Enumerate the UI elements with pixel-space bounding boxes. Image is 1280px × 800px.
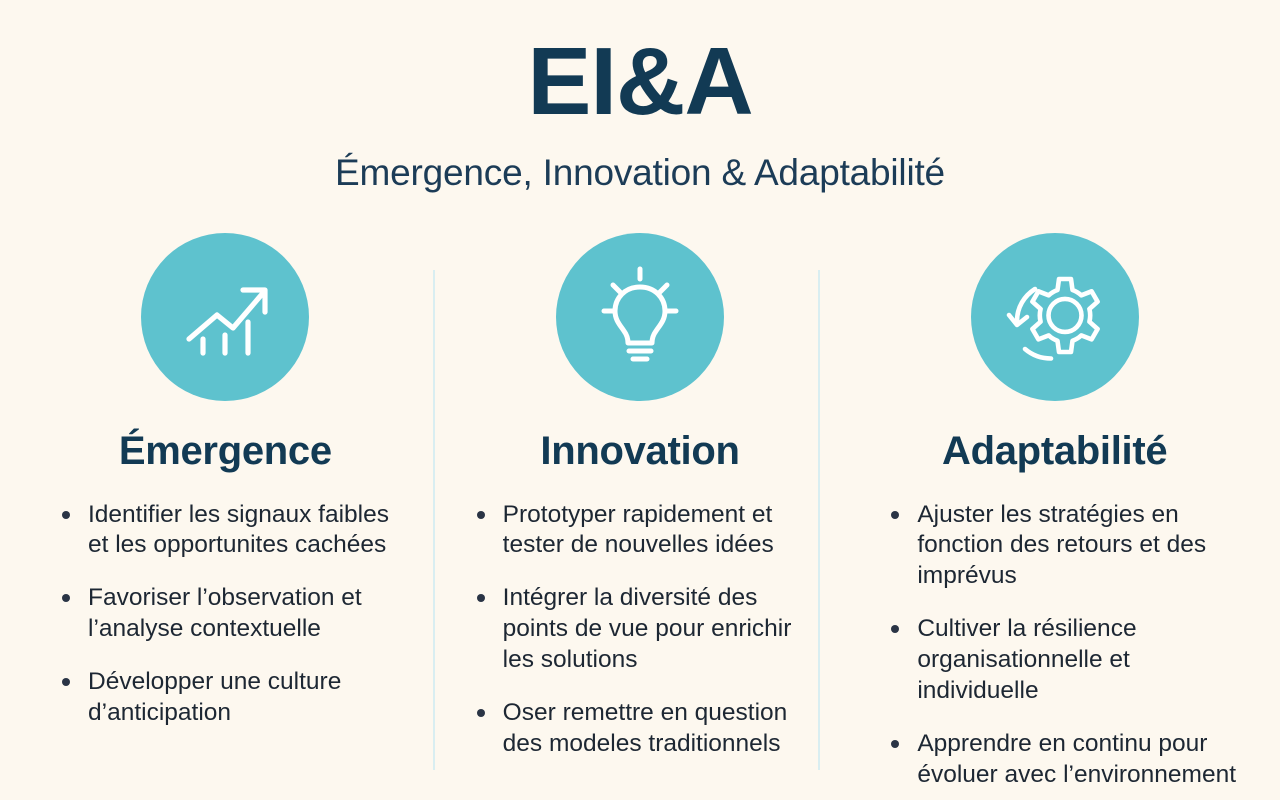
list-item-text: Favoriser l’observation et l’analyse con…: [88, 584, 362, 642]
list-item-text: Intégrer la diversité des points de vue …: [503, 584, 792, 673]
pillar-bullets-emergence: Identifier les signaux faibles et les op…: [44, 500, 407, 729]
list-item: Prototyper rapidement et tester de nouve…: [473, 500, 822, 562]
poster-header: EI&A Émergence, Innovation & Adaptabilit…: [0, 0, 1280, 195]
list-item: Apprendre en continu pour évoluer avec l…: [887, 729, 1236, 791]
pillar-column-innovation: Innovation Prototyper rapidement et test…: [433, 233, 848, 760]
list-item: Intégrer la diversité des points de vue …: [473, 583, 822, 676]
page-subtitle: Émergence, Innovation & Adaptabilité: [0, 152, 1280, 195]
bullet-dot-icon: [62, 594, 70, 602]
bullet-dot-icon: [891, 511, 899, 519]
list-item-text: Prototyper rapidement et tester de nouve…: [503, 501, 774, 559]
page-title: EI&A: [0, 34, 1280, 130]
bullet-dot-icon: [477, 594, 485, 602]
list-item-text: Oser remettre en question des modeles tr…: [503, 699, 788, 757]
bullet-dot-icon: [477, 511, 485, 519]
bullet-dot-icon: [62, 678, 70, 686]
list-item-text: Identifier les signaux faibles et les op…: [88, 501, 389, 559]
bullet-dot-icon: [477, 709, 485, 717]
pillar-heading-adaptabilite: Adaptabilité: [873, 429, 1236, 474]
pillar-column-emergence: Émergence Identifier les signaux faibles…: [18, 233, 433, 729]
bullet-dot-icon: [62, 511, 70, 519]
list-item-text: Cultiver la résilience organisationnelle…: [917, 615, 1136, 704]
list-item-text: Développer une culture d’anticipation: [88, 668, 341, 726]
pillar-column-adaptabilite: Adaptabilité Ajuster les stratégies en f…: [847, 233, 1262, 791]
growth-chart-icon: [141, 233, 309, 401]
bullet-dot-icon: [891, 625, 899, 633]
gear-refresh-icon: [971, 233, 1139, 401]
pillar-bullets-innovation: Prototyper rapidement et tester de nouve…: [459, 500, 822, 760]
pillar-heading-emergence: Émergence: [44, 429, 407, 474]
list-item: Identifier les signaux faibles et les op…: [58, 500, 407, 562]
list-item: Cultiver la résilience organisationnelle…: [887, 614, 1236, 707]
list-item: Développer une culture d’anticipation: [58, 667, 407, 729]
pillar-bullets-adaptabilite: Ajuster les stratégies en fonction des r…: [873, 500, 1236, 791]
lightbulb-icon: [556, 233, 724, 401]
infographic-poster: EI&A Émergence, Innovation & Adaptabilit…: [0, 0, 1280, 800]
pillars-container: Émergence Identifier les signaux faibles…: [0, 233, 1280, 791]
list-item: Favoriser l’observation et l’analyse con…: [58, 583, 407, 645]
list-item-text: Apprendre en continu pour évoluer avec l…: [917, 730, 1236, 788]
list-item-text: Ajuster les stratégies en fonction des r…: [917, 501, 1206, 590]
bullet-dot-icon: [891, 740, 899, 748]
pillar-heading-innovation: Innovation: [459, 429, 822, 474]
list-item: Oser remettre en question des modeles tr…: [473, 698, 822, 760]
list-item: Ajuster les stratégies en fonction des r…: [887, 500, 1236, 593]
